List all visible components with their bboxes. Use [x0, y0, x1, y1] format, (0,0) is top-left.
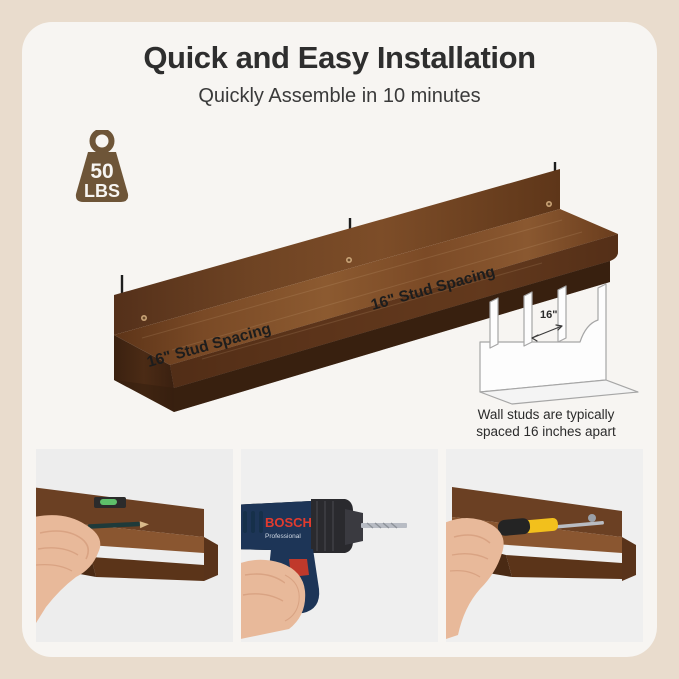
level-tool	[94, 497, 126, 508]
stud-caption-line2: spaced 16 inches apart	[476, 424, 616, 439]
stud-diagram-caption: Wall studs are typically spaced 16 inche…	[446, 406, 646, 440]
page-title: Quick and Easy Installation	[22, 40, 657, 76]
step-photo-fasten-screws	[446, 449, 643, 642]
stud-measure-label: 16"	[540, 309, 557, 321]
drill-brand-sublabel: Professional	[265, 533, 301, 540]
stud-caption-line1: Wall studs are typically	[478, 407, 615, 422]
content-card: Quick and Easy Installation Quickly Asse…	[22, 22, 657, 657]
step-photo-mark-with-level	[36, 449, 233, 642]
page-subtitle: Quickly Assemble in 10 minutes	[22, 85, 657, 108]
drill-brand-label: BOSCH	[265, 515, 312, 530]
installation-steps: BOSCH Professional	[36, 449, 643, 642]
step-photo-drill-holes: BOSCH Professional	[241, 449, 438, 642]
infographic-page: Quick and Easy Installation Quickly Asse…	[0, 0, 679, 679]
wall-studs-diagram: 16"	[462, 280, 642, 405]
